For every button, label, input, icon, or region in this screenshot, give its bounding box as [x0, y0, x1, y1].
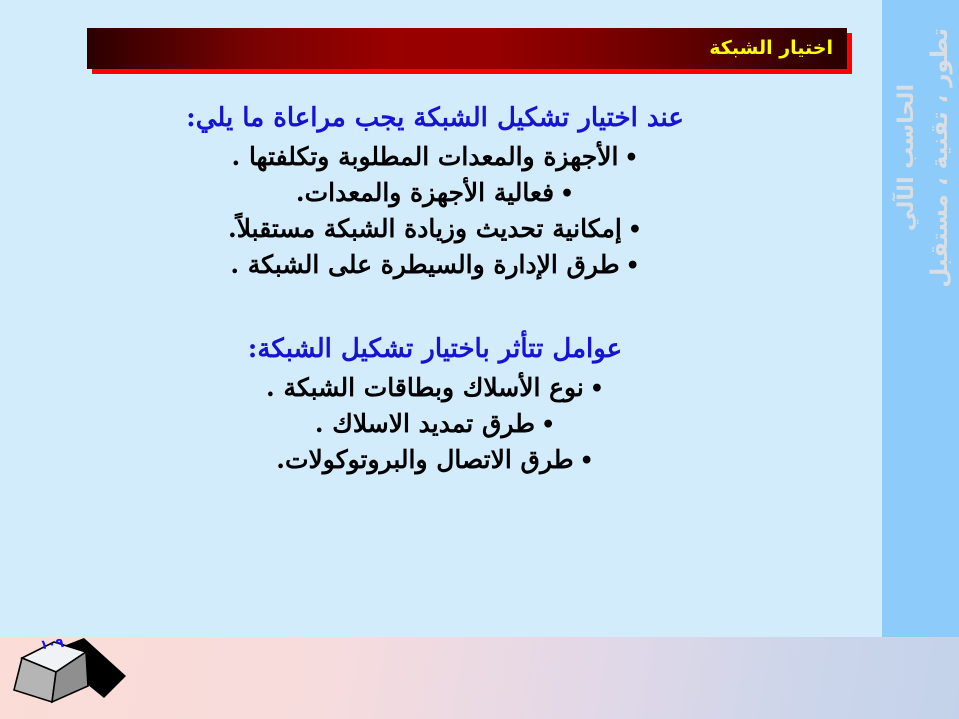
page-title: اختيار الشبكة [709, 39, 833, 58]
section-spacer [0, 283, 870, 331]
bullet-list-2: •نوع الأسلاك وبطاقات الشبكة . •طرق تمديد… [0, 370, 870, 478]
bullet-marker-icon: • [628, 219, 642, 241]
list-item: •طرق الإدارة والسيطرة على الشبكة . [0, 247, 870, 283]
list-item: •فعالية الأجهزة والمعدات. [0, 175, 870, 211]
list-item: •طرق الاتصال والبروتوكولات. [0, 442, 870, 478]
list-item-label: الأجهزة والمعدات المطلوبة وتكلفتها . [232, 142, 619, 171]
list-item-label: نوع الأسلاك وبطاقات الشبكة . [266, 373, 584, 402]
bullet-marker-icon: • [541, 414, 555, 436]
bullet-list-1: •الأجهزة والمعدات المطلوبة وتكلفتها . •ف… [0, 139, 870, 283]
sidebar-vertical-text-outer: تطور ، تقنية ، مستقبل [927, 28, 953, 288]
bullet-marker-icon: • [580, 450, 594, 472]
bullet-marker-icon: • [590, 378, 604, 400]
list-item: •الأجهزة والمعدات المطلوبة وتكلفتها . [0, 139, 870, 175]
section-heading-1: عند اختيار تشكيل الشبكة يجب مراعاة ما يل… [0, 100, 870, 137]
slide-canvas: تطور ، تقنية ، مستقبل الحاسب الآلي اختيا… [0, 0, 959, 719]
list-item: •إمكانية تحديث وزيادة الشبكة مستقبلاً. [0, 211, 870, 247]
list-item: •نوع الأسلاك وبطاقات الشبكة . [0, 370, 870, 406]
list-item-label: طرق تمديد الاسلاك . [315, 409, 535, 438]
sidebar-vertical-text-inner: الحاسب الآلي [894, 84, 919, 231]
list-item-label: طرق الاتصال والبروتوكولات. [276, 445, 573, 474]
list-item-label: إمكانية تحديث وزيادة الشبكة مستقبلاً. [228, 214, 622, 243]
section-heading-2: عوامل تتأثر باختيار تشكيل الشبكة: [0, 331, 870, 368]
bullet-marker-icon: • [626, 255, 640, 277]
list-item: •طرق تمديد الاسلاك . [0, 406, 870, 442]
list-item-label: فعالية الأجهزة والمعدات. [296, 178, 554, 207]
list-item-label: طرق الإدارة والسيطرة على الشبكة . [230, 250, 619, 279]
slide-content: عند اختيار تشكيل الشبكة يجب مراعاة ما يل… [0, 100, 870, 478]
keycap-decoration-icon [8, 630, 144, 712]
bullet-marker-icon: • [624, 147, 638, 169]
sidebar-text-group: تطور ، تقنية ، مستقبل الحاسب الآلي [878, 0, 959, 637]
title-bar: اختيار الشبكة [87, 28, 847, 69]
bullet-marker-icon: • [560, 183, 574, 205]
